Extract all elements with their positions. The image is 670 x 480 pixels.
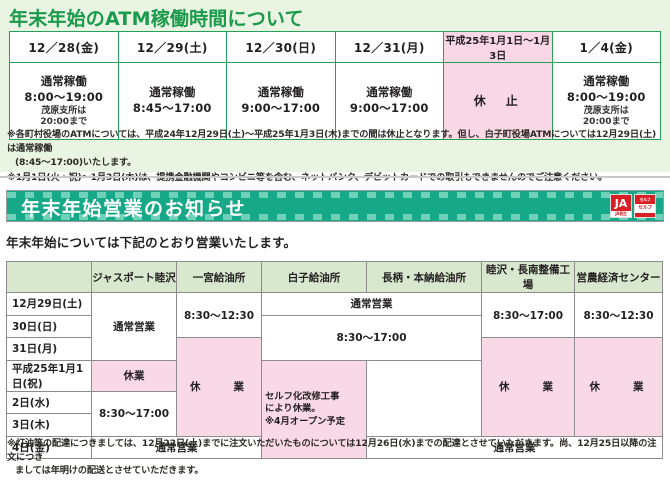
atm-header-cell-0: 12／28(金)	[10, 32, 119, 63]
atm-header-cell-1: 12／29(土)	[118, 32, 227, 63]
atm-section-title: 年末年始のATM稼働時間について	[9, 4, 304, 31]
atm-cell-0-status: 通常稼働	[10, 73, 118, 89]
jasport-hours-cell: 8:30〜17:00	[92, 391, 177, 436]
section-divider	[0, 176, 670, 178]
business-table-header-row: ジャスポート睦沢 一宮給油所 白子給油所 長柄・本納給油所 睦沢・長南整備工場 …	[7, 262, 663, 293]
atm-cell-0-hours: 8:00〜19:00	[10, 89, 118, 106]
business-row-date-0: 12月29日(土)	[7, 293, 92, 316]
mutsuzawa-closed-cell: 休 業	[575, 338, 663, 437]
atm-header-cell-5: 1／4(金)	[552, 32, 661, 63]
business-row-date-3: 平成25年1月1日(祝)	[7, 360, 92, 391]
business-table-corner	[7, 262, 92, 293]
atm-cell-1-status: 通常稼働	[119, 84, 227, 100]
business-col-header-1: 一宮給油所	[177, 262, 262, 293]
ja-logo-mark: JA	[611, 195, 631, 211]
atm-cell-4-status: 休 止	[444, 92, 552, 109]
ja-logo-caption: JA長生	[611, 211, 631, 217]
atm-table-header-row: 12／28(金) 12／29(土) 12／30(日) 12／31(月) 平成25…	[10, 32, 661, 63]
atm-header-cell-2: 12／30(日)	[227, 32, 336, 63]
einou-hours-cell: 8:30〜12:30	[575, 293, 663, 338]
business-lead-text: 年末年始については下記のとおり営業いたします。	[6, 232, 296, 251]
right-closed-label-a: 休 業	[499, 381, 557, 393]
atm-cell-3-hours: 9:00〜17:00	[336, 100, 444, 117]
business-col-header-2: 白子給油所	[262, 262, 367, 293]
right-closed-cell: 休 業	[482, 338, 575, 437]
self-logo-bottom	[635, 213, 655, 217]
atm-cell-5-status: 通常稼働	[553, 73, 661, 89]
atm-cell-3-status: 通常稼働	[336, 84, 444, 100]
business-row-date-4: 2日(水)	[7, 391, 92, 414]
self-logo-top: セルフ	[635, 195, 655, 204]
business-row-date-5: 3日(木)	[7, 414, 92, 437]
ja-logo-icon: JA JA長生	[610, 194, 632, 218]
business-col-header-4: 睦沢・長南整備工場	[482, 262, 575, 293]
self-service-logo-icon: セルフ セルフ	[634, 194, 656, 218]
atm-hours-table: 12／28(金) 12／29(土) 12／30(日) 12／31(月) 平成25…	[9, 31, 661, 140]
business-row-date-1: 30日(日)	[7, 315, 92, 338]
self-logo-mid: セルフ	[635, 204, 655, 213]
mutsuzawa-hours-cell: 8:30〜17:00	[482, 293, 575, 338]
banner-title: 年末年始営業のお知らせ	[21, 194, 246, 221]
atm-header-cell-4: 平成25年1月1日〜1月3日	[444, 32, 553, 63]
atm-cell-1-hours: 8:45〜17:00	[119, 100, 227, 117]
business-col-header-5: 営農経済センター	[575, 262, 663, 293]
atm-footnote-1: ※各町村役場のATMについては、平成24年12月29日(土)〜平成25年1月3日…	[7, 128, 665, 155]
atm-hours-section: 年末年始のATM稼働時間について 12／28(金) 12／29(土) 12／30…	[0, 0, 670, 172]
ichinomiya-morning-cell: 8:30〜12:30	[177, 293, 262, 338]
shirako-note-line-2: により休業。	[265, 403, 363, 416]
atm-cell-5-note-1: 茂原支所は	[553, 106, 661, 117]
atm-cell-5-hours: 8:00〜19:00	[553, 89, 661, 106]
atm-cell-0-note-1: 茂原支所は	[10, 106, 118, 117]
atm-cell-0-note-2: 20:00まで	[10, 117, 118, 128]
business-footnote-1-cont: ましては年明けの配送とさせていただきます。	[7, 464, 665, 478]
jasport-closed-cell: 休業	[92, 360, 177, 391]
jasport-normal-cell: 通常営業	[92, 293, 177, 361]
shirako-nagara-normal-cell: 通常営業	[262, 293, 482, 316]
business-footnote-1: ※灯油等の配達につきましては、12月22日(土)までに注文いただいたものについて…	[7, 437, 665, 464]
ichinomiya-closed-label: 休 業	[190, 381, 248, 393]
shirako-note-line-1: セルフ化改修工事	[265, 391, 363, 404]
logo-group: JA JA長生 セルフ セルフ	[610, 194, 656, 218]
business-footnotes: ※灯油等の配達につきましては、12月22日(土)までに注文いただいたものについて…	[7, 437, 665, 478]
right-closed-label-b: 休 業	[590, 381, 648, 393]
atm-cell-5-note-2: 20:00まで	[553, 117, 661, 128]
atm-cell-2-hours: 9:00〜17:00	[227, 100, 335, 117]
shirako-note-line-3: ※4月オープン予定	[265, 416, 363, 429]
shirako-nagara-hours-cell: 8:30〜17:00	[262, 315, 482, 360]
ichinomiya-closed-cell: 休 業	[177, 338, 262, 437]
business-row-date-2: 31日(月)	[7, 338, 92, 361]
business-hours-banner: 年末年始営業のお知らせ JA JA長生 セルフ セルフ	[6, 190, 664, 222]
atm-cell-2-status: 通常稼働	[227, 84, 335, 100]
business-col-header-3: 長柄・本納給油所	[367, 262, 482, 293]
business-table-row: 12月29日(土) 通常営業 8:30〜12:30 通常営業 8:30〜17:0…	[7, 293, 663, 316]
atm-footnote-1-cont: (8:45〜17:00)いたします。	[7, 156, 665, 170]
atm-header-cell-3: 12／31(月)	[335, 32, 444, 63]
business-hours-table: ジャスポート睦沢 一宮給油所 白子給油所 長柄・本納給油所 睦沢・長南整備工場 …	[6, 261, 663, 459]
business-col-header-0: ジャスポート睦沢	[92, 262, 177, 293]
